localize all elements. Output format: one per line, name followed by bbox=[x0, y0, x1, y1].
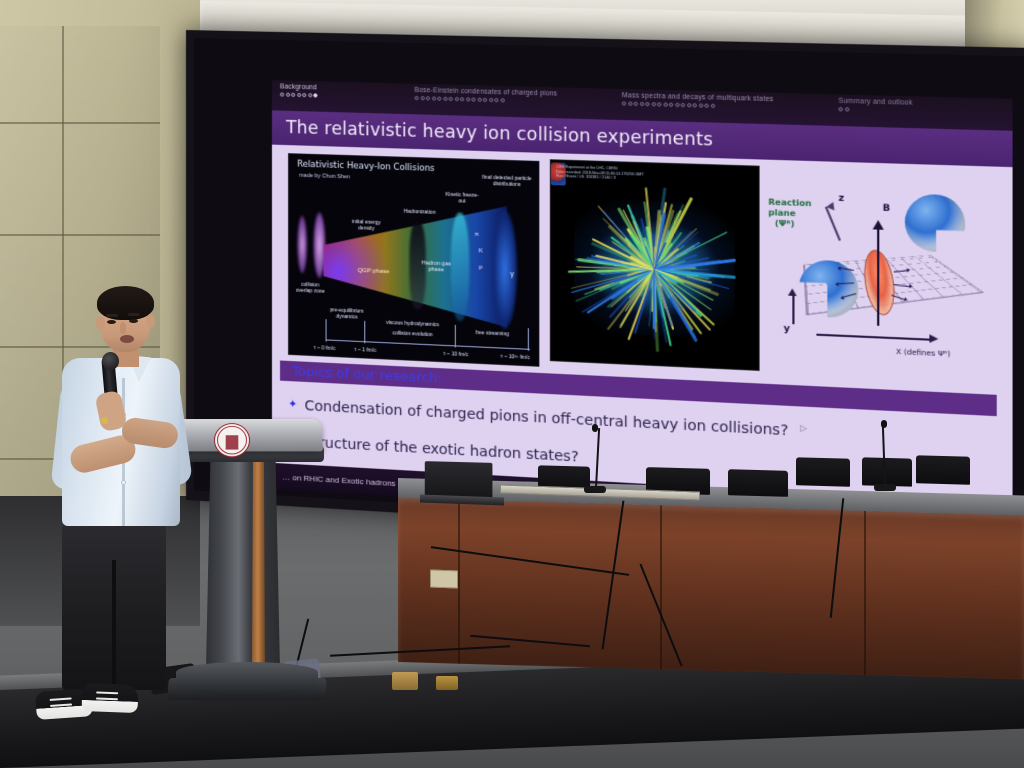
speaker-brow-left bbox=[106, 314, 118, 317]
chair bbox=[916, 455, 970, 485]
figure-left-credit: made by Chun Shen bbox=[299, 173, 350, 181]
magnetic-field-arrow bbox=[877, 224, 879, 326]
footer-text: … on RHIC and Exotic hadrons bbox=[282, 472, 396, 488]
axis-label-y: y bbox=[784, 324, 790, 335]
nav-section-summary[interactable]: Summary and outlook bbox=[838, 98, 994, 116]
reaction-plane-label: Reaction plane bbox=[768, 197, 838, 219]
axis-label-z: z bbox=[838, 193, 844, 204]
podium-wood-accent bbox=[252, 458, 265, 670]
speaker-eye-right bbox=[129, 319, 138, 323]
chair bbox=[862, 457, 912, 486]
figure-left-label-kinetic-freezeout: Kinetic freeze-out bbox=[442, 192, 481, 206]
ring-accessory bbox=[101, 417, 108, 424]
figure-left-label-viscous-hydro: viscous hydrodynamics bbox=[377, 319, 449, 328]
university-emblem bbox=[214, 423, 251, 457]
figure-cms-event-display: CMS Experiment at the LHC, CERN Data rec… bbox=[550, 159, 760, 371]
figure-left-time-2: τ ~ 10 fm/c bbox=[434, 351, 478, 359]
presentation-photo-scene: Background Bose-Einstein condensates of … bbox=[0, 0, 1024, 768]
figure-left-particle-gamma: γ bbox=[507, 272, 517, 279]
figure-left-particle-pi: π bbox=[471, 232, 481, 239]
floor-equipment-box bbox=[436, 676, 458, 690]
gooseneck-microphone-base bbox=[874, 484, 896, 491]
figure-reaction-plane: Reaction plane (Ψᴿ) z y X (defines Ψᴿ) B bbox=[768, 170, 996, 380]
speaker-eye-left bbox=[107, 320, 116, 324]
speaker-mouth bbox=[120, 335, 134, 343]
figure-left-label-hadron-gas: Hadron gas phase bbox=[418, 260, 455, 274]
nav-section-mass-spectra[interactable]: Mass spectra and decays of multiquark st… bbox=[622, 92, 839, 111]
magnetic-field-label: B bbox=[883, 203, 891, 214]
table-name-plate bbox=[430, 570, 458, 589]
nucleus-far bbox=[905, 193, 965, 252]
figure-left-label-initial-energy: initial energy density bbox=[346, 219, 387, 233]
chair bbox=[796, 457, 850, 487]
gooseneck-microphone-base bbox=[584, 486, 606, 493]
microphone-capsule bbox=[592, 424, 598, 432]
nav-section-background[interactable]: Background bbox=[280, 83, 414, 100]
speaker-ear-right bbox=[146, 314, 155, 328]
topics-heading: Topics of our research: bbox=[292, 364, 442, 387]
cms-event-caption: CMS Experiment at the LHC, CERN Data rec… bbox=[556, 165, 684, 183]
speaker-brow-right bbox=[128, 313, 140, 316]
speaker-shoe-right bbox=[82, 683, 139, 713]
figure-heavy-ion-collision-evolution: Relativistic Heavy-Ion Collisions made b… bbox=[288, 153, 539, 367]
bullet-text-1: Condensation of charged pions in off-cen… bbox=[304, 398, 788, 439]
figure-left-particle-p: p bbox=[476, 264, 486, 271]
chair bbox=[728, 469, 788, 497]
figure-left-title: Relativistic Heavy-Ion Collisions bbox=[297, 160, 435, 175]
podium-column bbox=[206, 458, 280, 670]
bullet-marker-icon: ▷ bbox=[800, 423, 807, 433]
star-bullet-icon: ✦ bbox=[288, 397, 297, 412]
figure-left-particle-k: K bbox=[476, 248, 486, 255]
nav-section-bec[interactable]: Bose-Einstein condensates of charged pio… bbox=[415, 87, 622, 106]
bullet-item-1: ✦ Condensation of charged pions in off-c… bbox=[288, 397, 807, 440]
podium-base bbox=[176, 662, 318, 696]
figure-left-label-collision-evolution: collision evolution bbox=[377, 330, 449, 339]
figure-left-label-final-distributions: final detected particle distributions bbox=[480, 174, 534, 188]
figure-left-time-0: τ ~ 0 fm/c bbox=[303, 344, 346, 352]
page-title: The relativistic heavy ion collision exp… bbox=[286, 118, 713, 151]
reaction-plane-symbol: (Ψᴿ) bbox=[775, 219, 830, 231]
microphone-capsule bbox=[881, 420, 887, 428]
speaker-ear-left bbox=[96, 316, 105, 330]
figure-left-label-free-streaming: free streaming bbox=[465, 329, 519, 338]
figure-left-label-overlap-zone: collision overlap zone bbox=[293, 281, 327, 295]
figure-left-time-3: τ ~ 10¹⁵ fm/c bbox=[492, 353, 538, 361]
figure-left-time-1: τ ~ 1 fm/c bbox=[344, 346, 387, 354]
speaker-leg-gap bbox=[112, 560, 116, 690]
figure-left-label-pre-equilibrium: pre-equilibrium dynamics bbox=[330, 307, 365, 321]
speaker-nose bbox=[120, 322, 126, 334]
floor-equipment-box bbox=[392, 672, 418, 690]
shirt-button bbox=[121, 480, 126, 485]
axis-label-x: X (defines Ψᴿ) bbox=[896, 348, 951, 359]
figure-left-label-hadronization: Hadronization bbox=[397, 208, 442, 216]
conference-table-front bbox=[398, 498, 1024, 679]
